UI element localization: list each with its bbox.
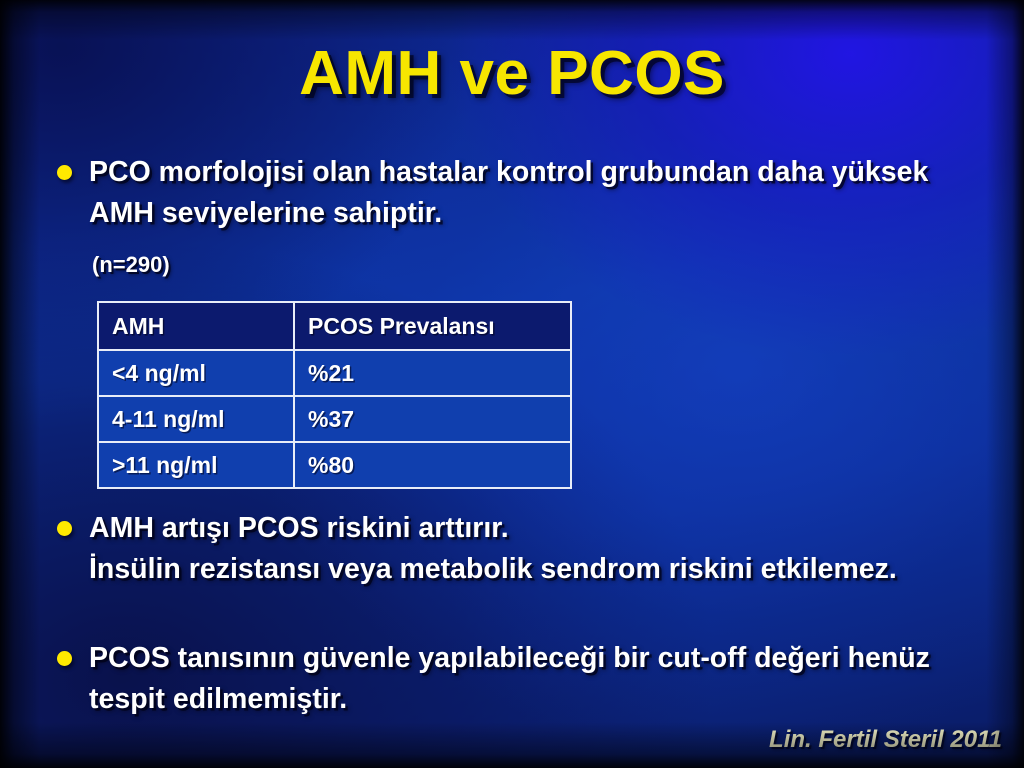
- bullet-2-line-2: İnsülin rezistansı veya metabolik sendro…: [89, 553, 753, 585]
- bullet-marker-icon: [57, 651, 72, 666]
- bullet-2-line-3: etkilemez.: [761, 553, 897, 585]
- slide-canvas: AMH ve PCOS PCO morfolojisi olan hastala…: [0, 0, 1024, 768]
- bullet-item-3: PCOS tanısının güvenle yapılabileceği bi…: [57, 638, 962, 720]
- bullet-marker-icon: [57, 165, 72, 180]
- bullet-text-2: AMH artışı PCOS riskini arttırır. İnsüli…: [89, 508, 897, 590]
- cell-amh-range: <4 ng/ml: [98, 350, 294, 396]
- amh-prevalence-table: AMH PCOS Prevalansı <4 ng/ml %21 4-11 ng…: [97, 301, 572, 489]
- bullet-text-3: PCOS tanısının güvenle yapılabileceği bi…: [89, 638, 962, 720]
- table-header-row: AMH PCOS Prevalansı: [98, 302, 571, 350]
- slide-title: AMH ve PCOS: [0, 38, 1024, 109]
- cell-amh-range: >11 ng/ml: [98, 442, 294, 488]
- cell-prevalence: %37: [294, 396, 571, 442]
- bullet-item-1: PCO morfolojisi olan hastalar kontrol gr…: [57, 152, 992, 234]
- cell-prevalence: %80: [294, 442, 571, 488]
- bullet-text-1: PCO morfolojisi olan hastalar kontrol gr…: [89, 152, 992, 234]
- table-row: <4 ng/ml %21: [98, 350, 571, 396]
- cell-amh-range: 4-11 ng/ml: [98, 396, 294, 442]
- bullet-2-line-1: AMH artışı PCOS riskini arttırır.: [89, 512, 509, 544]
- source-citation: Lin. Fertil Steril 2011: [769, 726, 1002, 754]
- bullet-1-line-1: PCO morfolojisi olan hastalar kontrol gr…: [89, 156, 824, 188]
- cell-prevalence: %21: [294, 350, 571, 396]
- bullet-3-line-1: PCOS tanısının güvenle yapılabileceği bi…: [89, 642, 746, 674]
- table-header-prevalence: PCOS Prevalansı: [294, 302, 571, 350]
- table-row: >11 ng/ml %80: [98, 442, 571, 488]
- table-header-amh: AMH: [98, 302, 294, 350]
- bullet-marker-icon: [57, 521, 72, 536]
- bullet-item-2: AMH artışı PCOS riskini arttırır. İnsüli…: [57, 508, 962, 590]
- table-row: 4-11 ng/ml %37: [98, 396, 571, 442]
- sample-size-note: (n=290): [92, 252, 170, 278]
